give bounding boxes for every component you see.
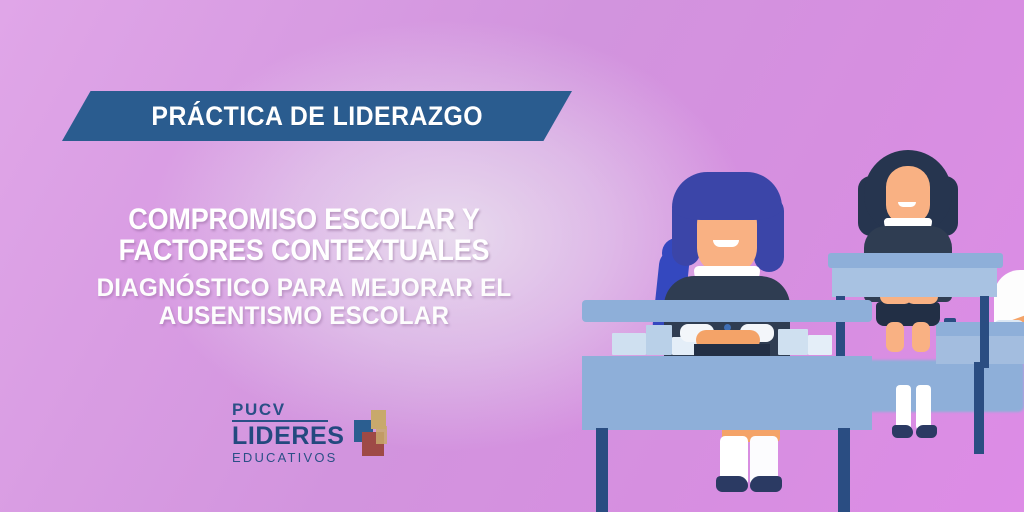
poster-canvas: PRÁCTICA DE LIDERAZGO COMPROMISO ESCOLAR… [0, 0, 1024, 512]
desk-back-top [828, 253, 1003, 268]
student-back-shoe-right [916, 425, 937, 438]
page-subtitle-line-2: AUSENTISMO ESCOLAR [56, 302, 553, 330]
title-block: COMPROMISO ESCOLAR Y FACTORES CONTEXTUAL… [48, 204, 560, 330]
logo-line-pucv: PUCV [232, 401, 286, 419]
desk-front-top [582, 300, 872, 322]
student-front-hair-bangs [672, 172, 782, 220]
desk-front-leg-left [596, 428, 608, 512]
logo-blocks-icon [354, 406, 388, 462]
desk-back-panel [832, 267, 997, 297]
logo-wordmark: PUCV LIDERES EDUCATIVOS [232, 401, 345, 465]
logo-line-lideres: LIDERES [232, 424, 345, 449]
desk-right-leg [974, 362, 984, 454]
practice-banner: PRÁCTICA DE LIDERAZGO [62, 91, 572, 141]
logo-line-educativos: EDUCATIVOS [232, 450, 338, 465]
student-front-smile [713, 240, 739, 247]
classroom-illustration [560, 0, 1024, 512]
student-back-sock-right [916, 385, 931, 430]
student-back-shoe-left [892, 425, 913, 438]
desk-front-panel [582, 356, 872, 430]
logo-block-tan-2 [376, 426, 387, 444]
book-5 [808, 335, 832, 355]
book-4 [778, 329, 808, 355]
book-1 [612, 333, 646, 355]
page-subtitle-line-1: DIAGNÓSTICO PARA MEJORAR EL [56, 274, 553, 302]
book-2 [646, 325, 672, 355]
desk-front-leg-right [838, 428, 850, 512]
banner-label: PRÁCTICA DE LIDERAZGO [151, 101, 483, 132]
pucv-lideres-educativos-logo: PUCV LIDERES EDUCATIVOS [232, 401, 388, 465]
desk-back-leg-right [980, 296, 989, 368]
student-back-face [886, 166, 930, 224]
student-back-sock-left [896, 385, 911, 430]
student-back-smile [898, 202, 916, 207]
page-title: COMPROMISO ESCOLAR Y FACTORES CONTEXTUAL… [74, 204, 535, 266]
desk-front [582, 300, 872, 500]
